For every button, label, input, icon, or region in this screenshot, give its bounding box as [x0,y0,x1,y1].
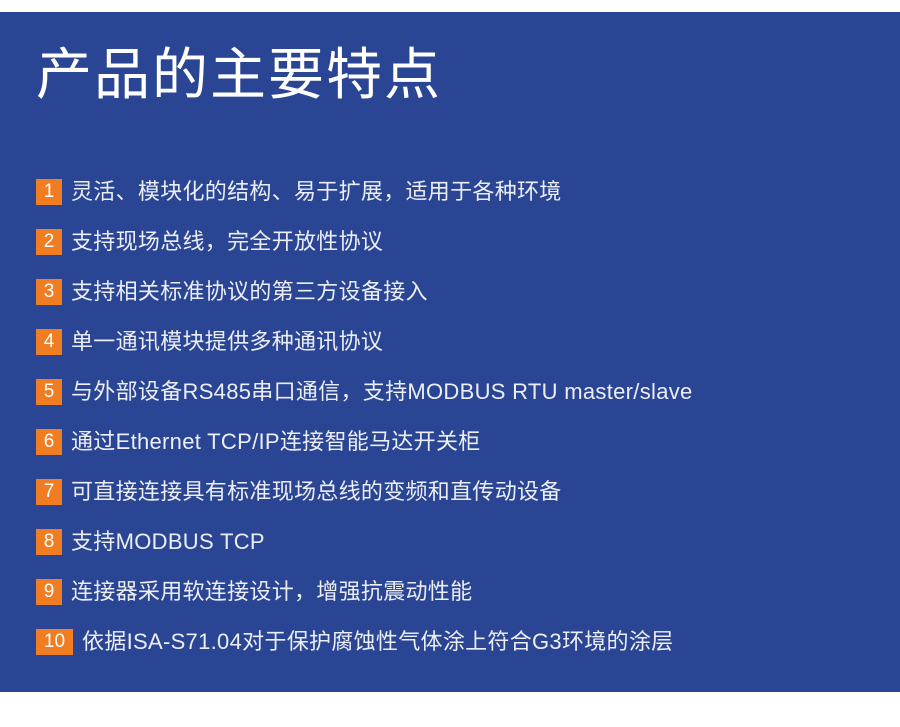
feature-text: 支持相关标准协议的第三方设备接入 [71,279,880,305]
list-item: 4 单一通讯模块提供多种通讯协议 [36,317,880,367]
feature-list: 1 灵活、模块化的结构、易于扩展，适用于各种环境 2 支持现场总线，完全开放性协… [36,167,880,667]
feature-text: 支持现场总线，完全开放性协议 [71,229,880,255]
feature-text: 依据ISA-S71.04对于保护腐蚀性气体涂上符合G3环境的涂层 [82,629,880,655]
feature-number-badge: 3 [36,279,62,305]
feature-number-badge: 9 [36,579,62,605]
feature-number-badge: 6 [36,429,62,455]
feature-number-badge: 5 [36,379,62,405]
feature-text: 与外部设备RS485串口通信，支持MODBUS RTU master/slave [71,379,880,405]
list-item: 5 与外部设备RS485串口通信，支持MODBUS RTU master/sla… [36,367,880,417]
feature-number-badge: 1 [36,179,62,205]
list-item: 8 支持MODBUS TCP [36,517,880,567]
feature-number-badge: 7 [36,479,62,505]
feature-text: 灵活、模块化的结构、易于扩展，适用于各种环境 [71,179,880,205]
list-item: 9 连接器采用软连接设计，增强抗震动性能 [36,567,880,617]
feature-text: 连接器采用软连接设计，增强抗震动性能 [71,579,880,605]
list-item: 3 支持相关标准协议的第三方设备接入 [36,267,880,317]
list-item: 2 支持现场总线，完全开放性协议 [36,217,880,267]
feature-text: 可直接连接具有标准现场总线的变频和直传动设备 [71,479,880,505]
feature-number-badge: 4 [36,329,62,355]
list-item: 7 可直接连接具有标准现场总线的变频和直传动设备 [36,467,880,517]
slide-panel: 产品的主要特点 1 灵活、模块化的结构、易于扩展，适用于各种环境 2 支持现场总… [0,12,900,692]
feature-text: 支持MODBUS TCP [71,529,880,555]
feature-number-badge: 8 [36,529,62,555]
list-item: 1 灵活、模块化的结构、易于扩展，适用于各种环境 [36,167,880,217]
feature-number-badge: 10 [36,629,73,655]
feature-text: 通过Ethernet TCP/IP连接智能马达开关柜 [71,429,880,455]
page-title: 产品的主要特点 [36,44,442,106]
feature-number-badge: 2 [36,229,62,255]
feature-text: 单一通讯模块提供多种通讯协议 [71,329,880,355]
list-item: 10 依据ISA-S71.04对于保护腐蚀性气体涂上符合G3环境的涂层 [36,617,880,667]
list-item: 6 通过Ethernet TCP/IP连接智能马达开关柜 [36,417,880,467]
